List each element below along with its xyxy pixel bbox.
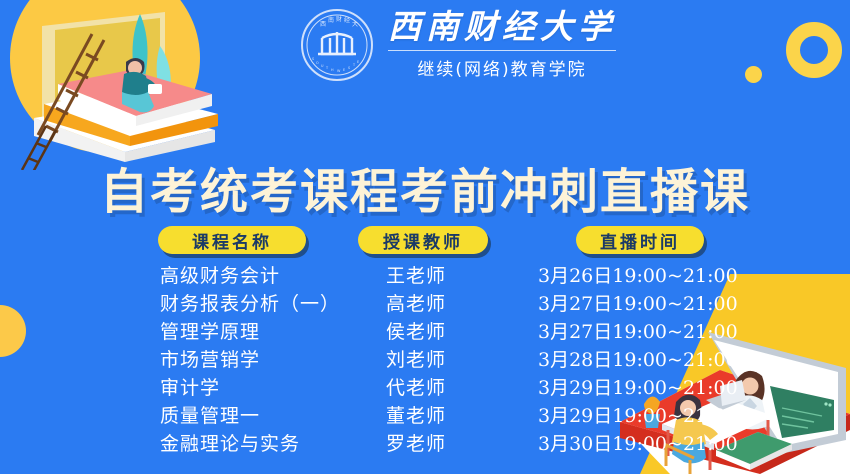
table-row: 管理学原理 侯老师 3月27日19:00~21:00 [0,318,850,346]
svg-text:西: 西 [320,21,326,28]
svg-text:T: T [352,63,356,67]
cell-teacher: 王老师 [386,262,446,290]
cell-teacher: 代老师 [386,374,446,402]
cell-time: 3月29日19:00~21:00 [538,402,738,430]
cell-course: 审计学 [160,374,220,402]
cell-teacher: 侯老师 [386,318,446,346]
cell-time: 3月28日19:00~21:00 [538,346,738,374]
svg-text:T: T [325,66,329,70]
cell-course: 金融理论与实务 [160,430,300,458]
table-row: 审计学 代老师 3月29日19:00~21:00 [0,374,850,402]
logo-divider [388,50,616,51]
yellow-ring-icon [786,22,842,78]
svg-text:经: 经 [344,16,350,24]
svg-text:E: E [357,60,359,64]
cell-course: 管理学原理 [160,318,260,346]
column-header-teacher: 授课教师 [358,226,488,254]
table-row: 金融理论与实务 罗老师 3月30日19:00~21:00 [0,430,850,458]
cell-course: 市场营销学 [160,346,260,374]
svg-text:南: 南 [328,16,334,24]
table-row: 市场营销学 刘老师 3月28日19:00~21:00 [0,346,850,374]
svg-text:大: 大 [352,20,358,28]
column-header-course: 课程名称 [158,226,306,254]
university-name: 西南财经大学 [388,10,616,45]
cell-time: 3月29日19:00~21:00 [538,374,738,402]
svg-text:S: S [348,66,350,70]
schedule-table: 高级财务会计 王老师 3月26日19:00~21:00 财务报表分析（一） 高老… [0,262,850,458]
university-seal-icon: 西南 财经 大 SO UT HW ES TE [300,8,374,82]
stacked-books-illustration [0,0,240,170]
table-row: 质量管理一 董老师 3月29日19:00~21:00 [0,402,850,430]
column-headers: 课程名称 授课教师 直播时间 [0,226,850,256]
cell-teacher: 刘老师 [386,346,446,374]
svg-text:U: U [321,64,324,68]
table-row: 高级财务会计 王老师 3月26日19:00~21:00 [0,262,850,290]
cell-teacher: 董老师 [386,402,446,430]
poster-canvas: 西南 财经 大 SO UT HW ES TE [0,0,850,474]
cell-course: 高级财务会计 [160,262,280,290]
cell-course: 财务报表分析（一） [160,290,340,318]
svg-text:W: W [337,69,341,73]
cell-course: 质量管理一 [160,402,260,430]
page-title: 自考统考课程考前冲刺直播课 [0,152,850,222]
college-name: 继续(网络)教育学院 [388,55,616,80]
cell-time: 3月27日19:00~21:00 [538,290,738,318]
cell-time: 3月26日19:00~21:00 [538,262,738,290]
svg-text:O: O [316,61,319,65]
yellow-dot-icon [745,66,762,83]
svg-text:财: 财 [336,15,342,23]
cell-time: 3月27日19:00~21:00 [538,318,738,346]
svg-text:S: S [312,57,314,61]
brand-logo: 西南 财经 大 SO UT HW ES TE [300,8,616,82]
column-header-time: 直播时间 [576,226,704,254]
svg-text:H: H [331,68,334,72]
cell-teacher: 罗老师 [386,430,446,458]
cell-teacher: 高老师 [386,290,446,318]
table-row: 财务报表分析（一） 高老师 3月27日19:00~21:00 [0,290,850,318]
cell-time: 3月30日19:00~21:00 [538,430,738,458]
svg-text:E: E [343,68,345,72]
